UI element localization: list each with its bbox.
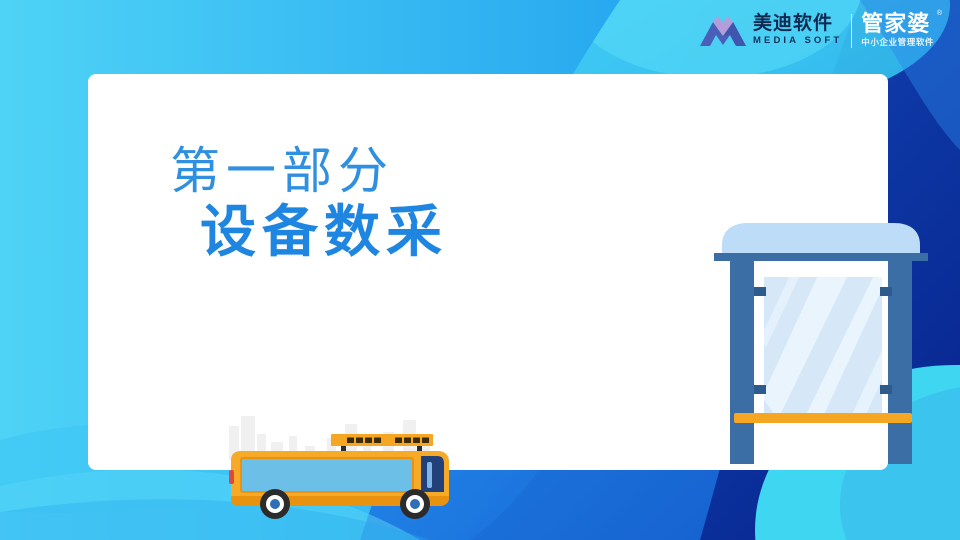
page-title-section: 第一部分 xyxy=(170,146,448,196)
shelter-bracket-bottom-left xyxy=(754,385,766,394)
logo-company-block: 美迪软件 MEDIA SOFT xyxy=(753,14,851,48)
shelter-post-left xyxy=(730,261,754,464)
bus-shelter-illustration xyxy=(708,219,933,464)
logo-divider xyxy=(851,14,852,48)
bus-wheel-front xyxy=(400,489,430,519)
page-title: 第一部分 设备数采 xyxy=(170,146,448,260)
slide-root: 第一部分 设备数采 xyxy=(0,0,960,540)
bus-door-glass-strip xyxy=(427,462,432,488)
logo-company-cn: 美迪软件 xyxy=(753,14,842,34)
logo-registered-mark: ® xyxy=(937,10,942,17)
shelter-roof-beam xyxy=(714,253,928,261)
shelter-roof xyxy=(722,223,920,253)
shelter-bench-bar xyxy=(734,413,912,423)
shelter-bracket-bottom-right xyxy=(880,385,892,394)
brand-logo: 美迪软件 MEDIA SOFT 管家婆 ® 中小企业管理软件 xyxy=(700,8,934,54)
logo-product-tagline: 中小企业管理软件 xyxy=(861,35,934,49)
bus-wheel-rear xyxy=(260,489,290,519)
logo-product-block: 管家婆 ® 中小企业管理软件 xyxy=(861,12,934,50)
media-soft-m-mark-icon xyxy=(700,14,746,48)
bus-taillight xyxy=(229,470,234,484)
logo-company-en: MEDIA SOFT xyxy=(753,34,842,48)
logo-product-cn: 管家婆 xyxy=(861,12,934,35)
bus-front-door xyxy=(421,456,444,492)
city-bus-illustration xyxy=(223,412,463,524)
shelter-bracket-top-right xyxy=(880,287,892,296)
shelter-bracket-top-left xyxy=(754,287,766,296)
page-title-subject: 设备数采 xyxy=(200,204,448,260)
bus-side-window xyxy=(241,458,413,492)
content-card: 第一部分 设备数采 xyxy=(88,74,888,470)
